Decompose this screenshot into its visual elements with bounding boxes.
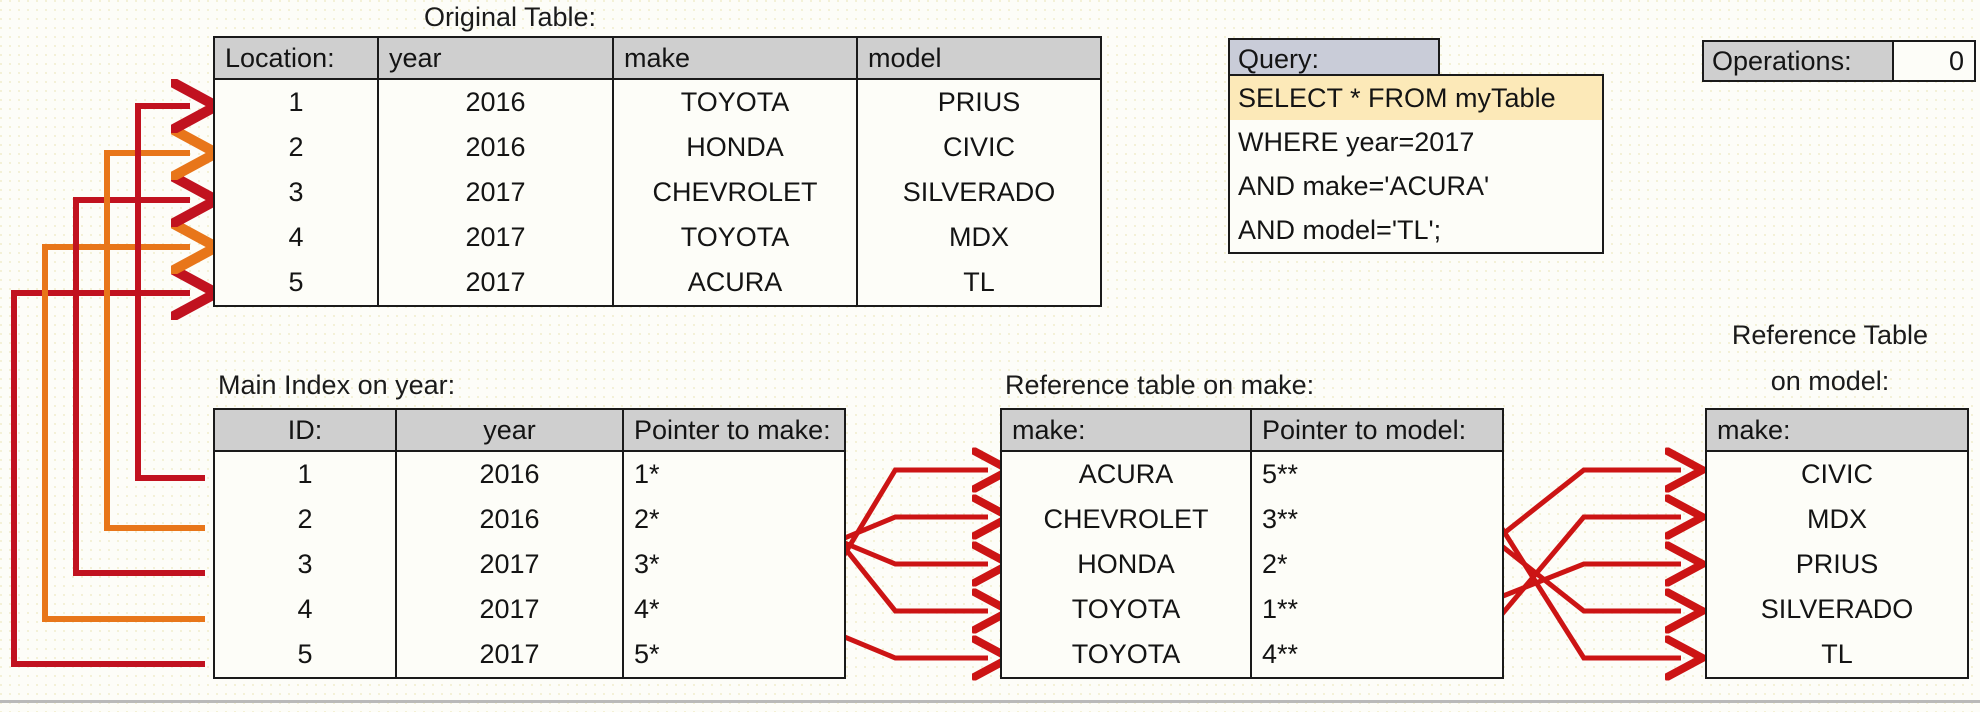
cell-model: TL bbox=[857, 260, 1101, 306]
table-row: SILVERADO bbox=[1706, 587, 1968, 632]
main-index-table: ID: year Pointer to make: 1 2016 1* 2 20… bbox=[213, 408, 846, 679]
cell-model: PRIUS bbox=[1706, 542, 1968, 587]
cell-location: 1 bbox=[214, 79, 378, 125]
table-row: TOYOTA 1** bbox=[1001, 587, 1503, 632]
cell-model: MDX bbox=[1706, 497, 1968, 542]
cell-year: 2017 bbox=[396, 632, 623, 678]
table-row: CHEVROLET 3** bbox=[1001, 497, 1503, 542]
cell-pointer: 1* bbox=[623, 451, 845, 497]
query-card: Query: SELECT * FROM myTable WHERE year=… bbox=[1228, 38, 1604, 254]
bottom-divider bbox=[0, 700, 1980, 703]
table-row: 4 2017 4* bbox=[214, 587, 845, 632]
col-header-pointer-to-make: Pointer to make: bbox=[623, 409, 845, 451]
cell-id: 2 bbox=[214, 497, 396, 542]
cell-year: 2017 bbox=[378, 215, 613, 260]
cell-year: 2017 bbox=[378, 170, 613, 215]
cell-make: TOYOTA bbox=[613, 215, 857, 260]
cell-year: 2016 bbox=[378, 125, 613, 170]
cell-location: 4 bbox=[214, 215, 378, 260]
table-header-row: ID: year Pointer to make: bbox=[214, 409, 845, 451]
table-row: 2 2016 2* bbox=[214, 497, 845, 542]
col-header-year: year bbox=[396, 409, 623, 451]
cell-pointer: 2* bbox=[623, 497, 845, 542]
cell-make: ACURA bbox=[1001, 451, 1251, 497]
query-line-1[interactable]: SELECT * FROM myTable bbox=[1230, 76, 1602, 120]
cell-make: CHEVROLET bbox=[1001, 497, 1251, 542]
table-row: PRIUS bbox=[1706, 542, 1968, 587]
cell-make: TOYOTA bbox=[1001, 587, 1251, 632]
query-line-4[interactable]: AND model='TL'; bbox=[1230, 208, 1602, 252]
cell-model: SILVERADO bbox=[1706, 587, 1968, 632]
cell-pointer: 4** bbox=[1251, 632, 1503, 678]
col-header-make: make bbox=[613, 37, 857, 79]
cell-year: 2017 bbox=[378, 260, 613, 306]
col-header-make: make: bbox=[1706, 409, 1968, 451]
col-header-pointer-to-model: Pointer to model: bbox=[1251, 409, 1503, 451]
operations-value: 0 bbox=[1894, 42, 1974, 80]
cell-pointer: 3* bbox=[623, 542, 845, 587]
original-table-panel: Location: year make model 1 2016 TOYOTA … bbox=[213, 36, 1102, 307]
cell-id: 5 bbox=[214, 632, 396, 678]
cell-model: SILVERADO bbox=[857, 170, 1101, 215]
cell-location: 2 bbox=[214, 125, 378, 170]
query-line-2[interactable]: WHERE year=2017 bbox=[1230, 120, 1602, 164]
original-table-caption: Original Table: bbox=[360, 2, 660, 33]
cell-pointer: 5* bbox=[623, 632, 845, 678]
cell-pointer: 2* bbox=[1251, 542, 1503, 587]
cell-make: CHEVROLET bbox=[613, 170, 857, 215]
table-row: 3 2017 CHEVROLET SILVERADO bbox=[214, 170, 1101, 215]
cell-model: PRIUS bbox=[857, 79, 1101, 125]
main-index-panel: ID: year Pointer to make: 1 2016 1* 2 20… bbox=[213, 408, 846, 679]
cell-year: 2017 bbox=[396, 587, 623, 632]
cell-year: 2016 bbox=[396, 497, 623, 542]
cell-make: ACURA bbox=[613, 260, 857, 306]
table-header-row: make: Pointer to model: bbox=[1001, 409, 1503, 451]
cell-make: HONDA bbox=[1001, 542, 1251, 587]
col-header-year: year bbox=[378, 37, 613, 79]
cell-make: HONDA bbox=[613, 125, 857, 170]
reference-make-caption: Reference table on make: bbox=[1005, 370, 1314, 401]
table-row: 4 2017 TOYOTA MDX bbox=[214, 215, 1101, 260]
query-line-3[interactable]: AND make='ACURA' bbox=[1230, 164, 1602, 208]
cell-pointer: 3** bbox=[1251, 497, 1503, 542]
cell-pointer: 4* bbox=[623, 587, 845, 632]
table-row: 1 2016 1* bbox=[214, 451, 845, 497]
operations-label: Operations: bbox=[1704, 42, 1894, 80]
original-table: Location: year make model 1 2016 TOYOTA … bbox=[213, 36, 1102, 307]
table-header-row: Location: year make model bbox=[214, 37, 1101, 79]
table-row: 1 2016 TOYOTA PRIUS bbox=[214, 79, 1101, 125]
col-header-make: make: bbox=[1001, 409, 1251, 451]
main-index-caption: Main Index on year: bbox=[218, 370, 455, 401]
table-row: MDX bbox=[1706, 497, 1968, 542]
reference-model-table: make: CIVIC MDX PRIUS SILVERADO TL bbox=[1705, 408, 1969, 679]
table-row: ACURA 5** bbox=[1001, 451, 1503, 497]
cell-id: 3 bbox=[214, 542, 396, 587]
cell-location: 5 bbox=[214, 260, 378, 306]
reference-make-panel: make: Pointer to model: ACURA 5** CHEVRO… bbox=[1000, 408, 1504, 679]
table-row: 3 2017 3* bbox=[214, 542, 845, 587]
query-body[interactable]: SELECT * FROM myTable WHERE year=2017 AN… bbox=[1228, 74, 1604, 254]
table-row: TL bbox=[1706, 632, 1968, 678]
cell-year: 2017 bbox=[396, 542, 623, 587]
table-row: 2 2016 HONDA CIVIC bbox=[214, 125, 1101, 170]
cell-year: 2016 bbox=[396, 451, 623, 497]
cell-id: 4 bbox=[214, 587, 396, 632]
cell-year: 2016 bbox=[378, 79, 613, 125]
cell-model: CIVIC bbox=[1706, 451, 1968, 497]
cell-pointer: 1** bbox=[1251, 587, 1503, 632]
reference-model-panel: make: CIVIC MDX PRIUS SILVERADO TL bbox=[1705, 408, 1969, 679]
cell-model: CIVIC bbox=[857, 125, 1101, 170]
cell-location: 3 bbox=[214, 170, 378, 215]
query-tab-label: Query: bbox=[1228, 38, 1440, 76]
table-row: 5 2017 5* bbox=[214, 632, 845, 678]
index-to-original-connectors bbox=[14, 106, 205, 664]
table-row: CIVIC bbox=[1706, 451, 1968, 497]
operations-counter: Operations: 0 bbox=[1702, 40, 1976, 82]
table-header-row: make: bbox=[1706, 409, 1968, 451]
cell-make: TOYOTA bbox=[613, 79, 857, 125]
table-row: 5 2017 ACURA TL bbox=[214, 260, 1101, 306]
reference-model-caption-line2: on model: bbox=[1700, 366, 1960, 397]
col-header-location: Location: bbox=[214, 37, 378, 79]
cell-model: MDX bbox=[857, 215, 1101, 260]
cell-make: TOYOTA bbox=[1001, 632, 1251, 678]
table-row: TOYOTA 4** bbox=[1001, 632, 1503, 678]
reference-make-table: make: Pointer to model: ACURA 5** CHEVRO… bbox=[1000, 408, 1504, 679]
cell-id: 1 bbox=[214, 451, 396, 497]
table-row: HONDA 2* bbox=[1001, 542, 1503, 587]
cell-model: TL bbox=[1706, 632, 1968, 678]
reference-model-caption-line1: Reference Table bbox=[1700, 320, 1960, 351]
cell-pointer: 5** bbox=[1251, 451, 1503, 497]
col-header-model: model bbox=[857, 37, 1101, 79]
col-header-id: ID: bbox=[214, 409, 396, 451]
